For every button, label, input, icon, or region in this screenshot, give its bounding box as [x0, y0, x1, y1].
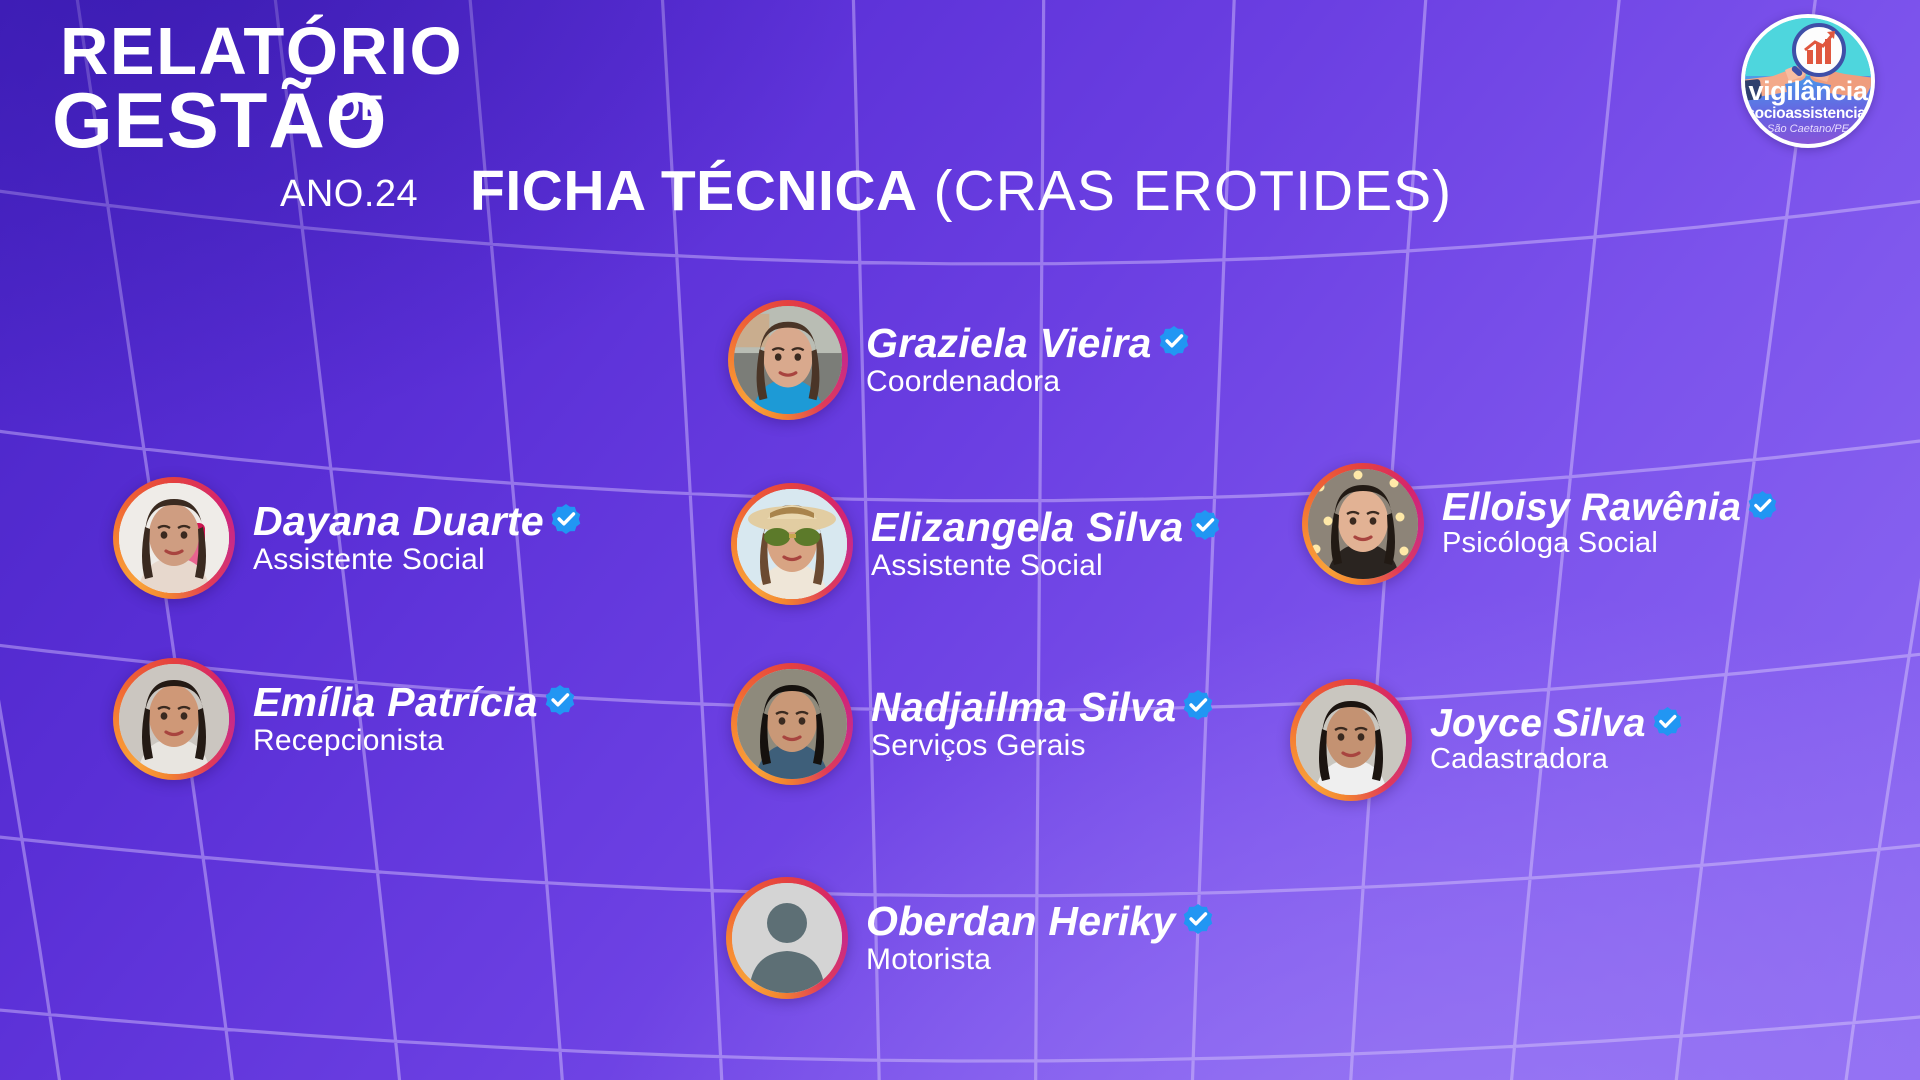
member-name: Joyce Silva	[1430, 704, 1646, 745]
member-role: Coordenadora	[866, 365, 1189, 398]
avatar-ring	[731, 663, 853, 785]
avatar[interactable]	[737, 489, 847, 599]
avatar-ring	[113, 477, 235, 599]
team-member-card[interactable]: Joyce Silva Cadastradora	[1290, 679, 1682, 801]
member-name-row: Dayana Duarte	[253, 500, 581, 543]
verified-badge-icon	[1190, 510, 1220, 545]
member-role: Serviços Gerais	[871, 729, 1213, 762]
magnifying-glass-icon	[1791, 25, 1844, 77]
avatar-ring	[726, 877, 848, 999]
section-title-main: FICHA TÉCNICA	[470, 159, 918, 223]
section-title: FICHA TÉCNICA (CRAS EROTIDES)	[470, 163, 1452, 220]
member-name-row: Elloisy Rawênia	[1442, 488, 1777, 529]
section-title-unit: (CRAS EROTIDES)	[934, 159, 1453, 223]
member-info: Elloisy Rawênia Psicóloga Social	[1442, 488, 1777, 560]
avatar-ring	[728, 300, 848, 420]
title-block: RELATÓRIO DE GESTÃO ANO.24 FICHA TÉCNICA…	[52, 8, 1392, 208]
report-year-label: ANO.24	[280, 175, 418, 213]
verified-badge-icon	[1183, 690, 1213, 725]
avatar[interactable]	[737, 669, 847, 779]
member-role: Recepcionista	[253, 724, 575, 757]
team-member-card[interactable]: Elloisy Rawênia Psicóloga Social	[1302, 463, 1777, 585]
team-member-card[interactable]: Elizangela Silva Assistente Social	[731, 483, 1220, 605]
team-member-card[interactable]: Graziela Vieira Coordenadora	[728, 300, 1189, 420]
report-title-line2: GESTÃO	[52, 81, 387, 159]
verified-badge-icon	[1653, 707, 1682, 741]
team-member-card[interactable]: Emília Patrícia Recepcionista	[113, 658, 575, 780]
member-name: Dayana Duarte	[253, 500, 544, 543]
member-name-row: Oberdan Heriky	[866, 900, 1213, 943]
member-name-row: Graziela Vieira	[866, 322, 1189, 365]
vigilancia-logo[interactable]: vigilância socioassistencial São Caetano…	[1741, 14, 1875, 148]
member-role: Cadastradora	[1430, 744, 1682, 776]
team-member-card[interactable]: Dayana Duarte Assistente Social	[113, 477, 581, 599]
member-info: Elizangela Silva Assistente Social	[871, 506, 1220, 582]
avatar[interactable]	[1296, 685, 1406, 795]
member-info: Nadjailma Silva Serviços Gerais	[871, 686, 1213, 762]
member-name: Nadjailma Silva	[871, 686, 1176, 729]
member-name-row: Emília Patrícia	[253, 681, 575, 724]
member-info: Graziela Vieira Coordenadora	[866, 322, 1189, 398]
member-info: Emília Patrícia Recepcionista	[253, 681, 575, 757]
avatar-ring	[1302, 463, 1424, 585]
team-member-card[interactable]: Nadjailma Silva Serviços Gerais	[731, 663, 1213, 785]
member-name: Elloisy Rawênia	[1442, 488, 1741, 529]
avatar[interactable]	[119, 664, 229, 774]
team-member-card[interactable]: Oberdan Heriky Motorista	[726, 877, 1213, 999]
logo-name-sub: socioassistencial	[1745, 106, 1871, 122]
avatar[interactable]	[732, 883, 842, 993]
logo-artwork: vigilância socioassistencial São Caetano…	[1745, 18, 1871, 144]
report-title-line1: RELATÓRIO	[60, 18, 463, 85]
verified-badge-icon	[1183, 904, 1213, 939]
verified-badge-icon	[545, 685, 575, 720]
member-name-row: Nadjailma Silva	[871, 686, 1213, 729]
member-name: Elizangela Silva	[871, 506, 1183, 549]
verified-badge-icon	[1159, 326, 1189, 361]
avatar-ring	[113, 658, 235, 780]
member-name-row: Joyce Silva	[1430, 704, 1682, 745]
member-info: Dayana Duarte Assistente Social	[253, 500, 581, 576]
verified-badge-icon	[1748, 491, 1777, 525]
member-name-row: Elizangela Silva	[871, 506, 1220, 549]
member-name: Graziela Vieira	[866, 322, 1152, 365]
member-role: Assistente Social	[871, 549, 1220, 582]
logo-name-main: vigilância	[1745, 78, 1871, 105]
member-info: Joyce Silva Cadastradora	[1430, 704, 1682, 776]
member-role: Motorista	[866, 943, 1213, 976]
member-name: Emília Patrícia	[253, 681, 538, 724]
avatar[interactable]	[734, 306, 842, 414]
logo-location: São Caetano/PE	[1745, 124, 1871, 135]
avatar[interactable]	[119, 483, 229, 593]
member-role: Psicóloga Social	[1442, 528, 1777, 560]
avatar-ring	[1290, 679, 1412, 801]
member-name: Oberdan Heriky	[866, 900, 1176, 943]
avatar[interactable]	[1308, 469, 1418, 579]
avatar-ring	[731, 483, 853, 605]
member-info: Oberdan Heriky Motorista	[866, 900, 1213, 976]
verified-badge-icon	[551, 504, 581, 539]
slide-canvas: RELATÓRIO DE GESTÃO ANO.24 FICHA TÉCNICA…	[0, 0, 1920, 1080]
member-role: Assistente Social	[253, 543, 581, 576]
